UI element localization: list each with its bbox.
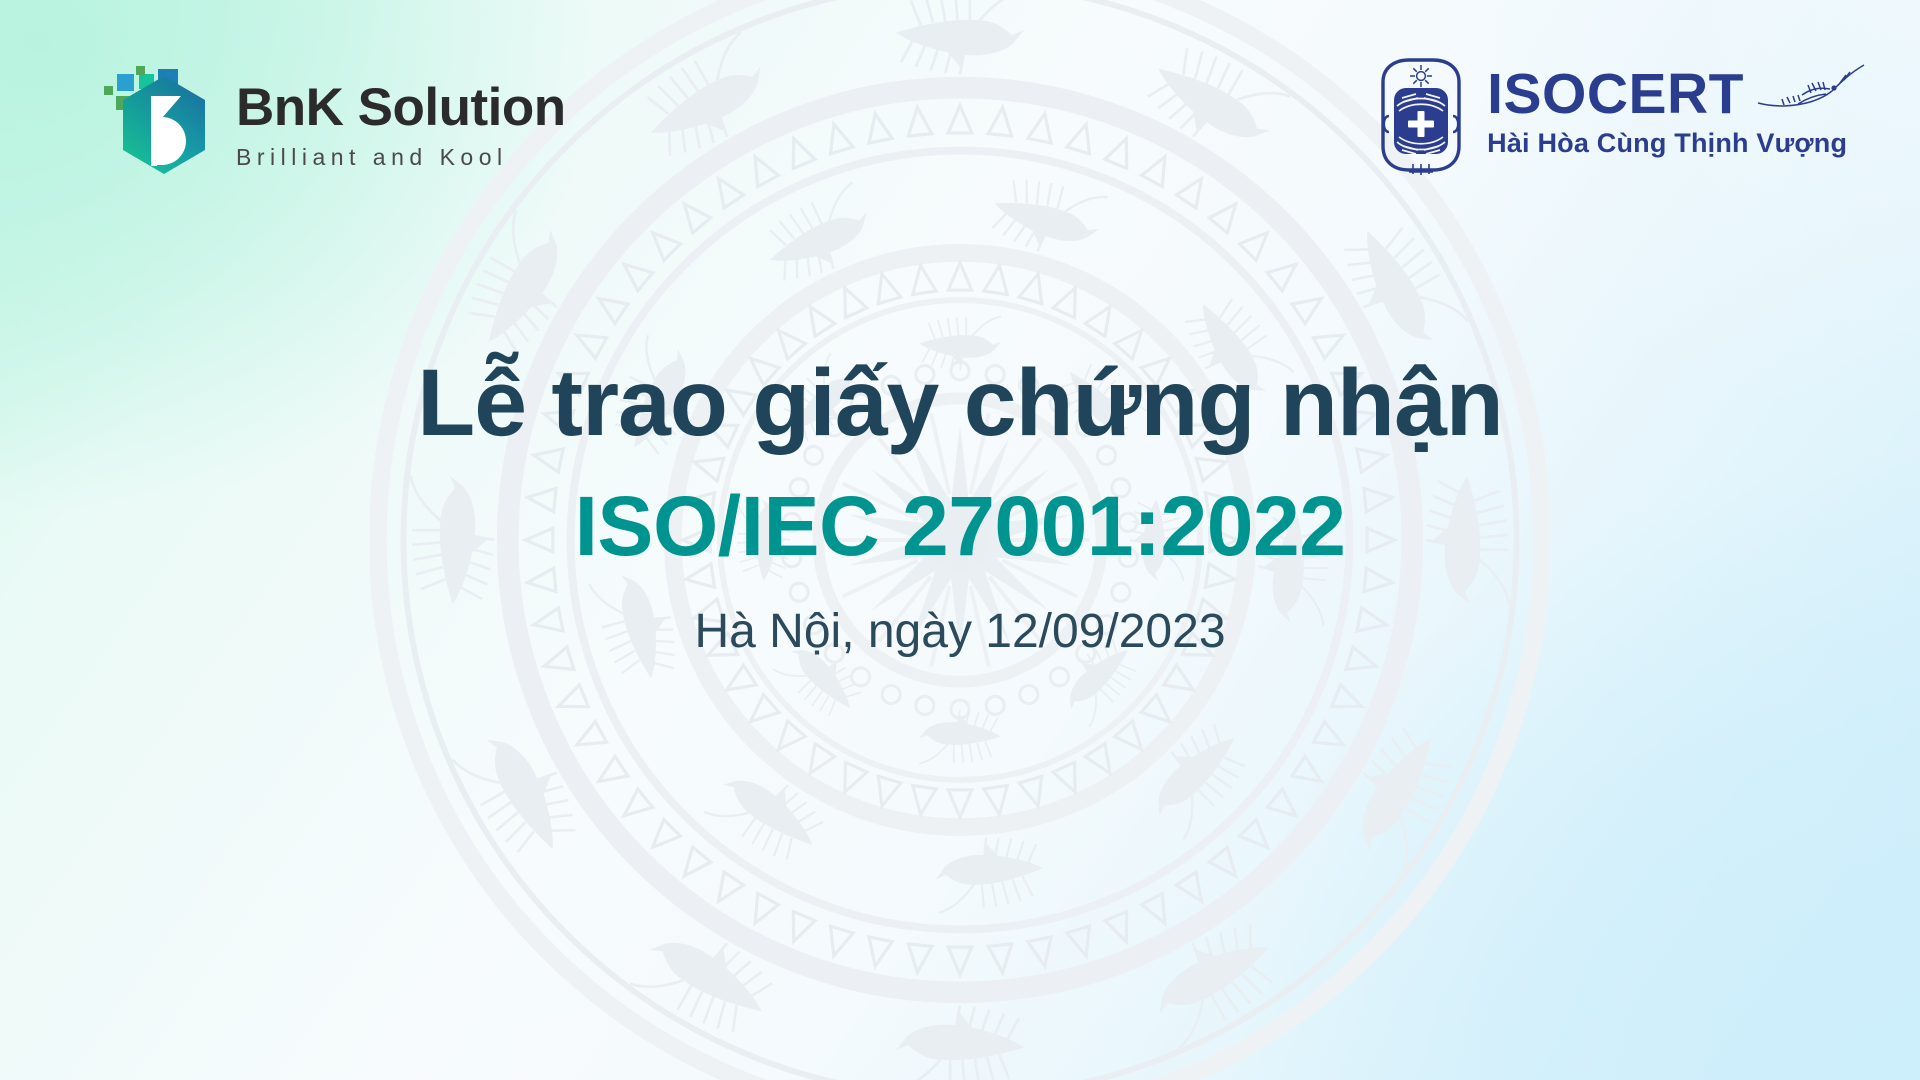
isocert-wordmark: ISOCERT Hài Hòa Cùng Thịnh Vượ [1487,54,1872,159]
event-date: Hà Nội, ngày 12/09/2023 [0,606,1920,659]
bnk-hexagon-key-logo-icon [78,38,218,190]
event-title-block: Lễ trao giấy chứng nhận ISO/IEC 27001:20… [0,354,1920,659]
bnk-company-name: BnK Solution [236,81,566,134]
isocert-name: ISOCERT [1487,66,1744,123]
main-title: Lễ trao giấy chứng nhận [0,354,1920,454]
bnk-tagline: Brilliant and Kool [236,146,566,169]
isocert-bird-flourish-icon [1754,61,1872,123]
slide-canvas: BnK Solution Brilliant and Kool [0,0,1920,1080]
isocert-shield-emblem-icon [1369,54,1473,176]
isocert-logo: ISOCERT Hài Hòa Cùng Thịnh Vượ [1369,54,1872,176]
standard-title: ISO/IEC 27001:2022 [0,480,1920,572]
bnk-solution-logo: BnK Solution Brilliant and Kool [78,38,566,190]
bnk-wordmark: BnK Solution Brilliant and Kool [236,59,566,169]
isocert-slogan: Hài Hòa Cùng Thịnh Vượng [1487,129,1872,159]
